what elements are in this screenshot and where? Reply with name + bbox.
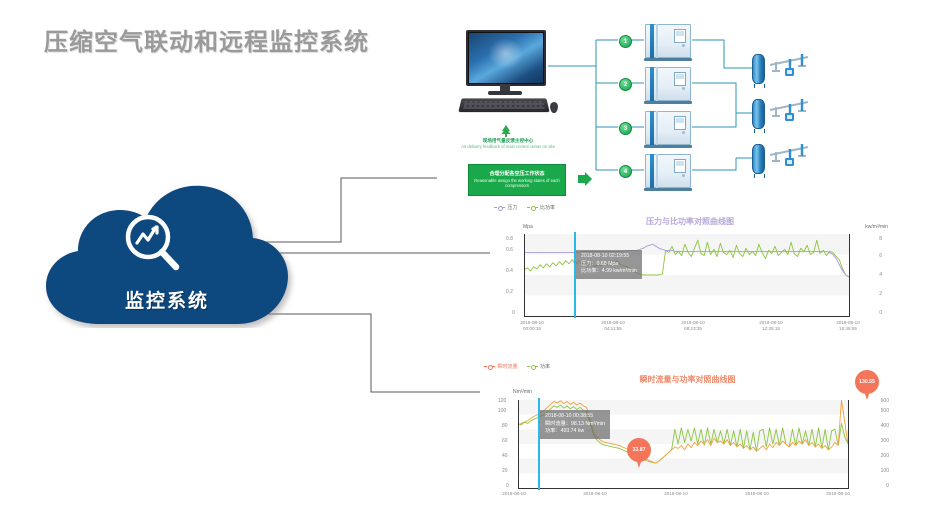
air-compressor-2 bbox=[645, 67, 691, 101]
pressure-tooltip-line2: 比功率：4.99 kw/m³/min bbox=[581, 268, 637, 276]
pressure-xtick-1: 2018-08-1004:11:55 bbox=[583, 320, 643, 331]
flow-xtick-3: 2018-08-10 bbox=[727, 491, 787, 497]
flow-tooltip-line2: 功率：493.74 kw bbox=[545, 428, 605, 436]
pressure-xtick-4: 2018-08-1016:46:55 bbox=[818, 320, 878, 331]
monitor-caption-en: Air delivery feedback of main control ce… bbox=[446, 144, 570, 149]
pressure-ytick-3: 0.6 bbox=[506, 247, 513, 253]
legend-label-pressure: 压力 bbox=[508, 204, 518, 211]
desktop-monitor-icon bbox=[460, 30, 548, 120]
pressure-xtick-3: 2018-08-1012:35:15 bbox=[741, 320, 801, 331]
node-circle-1: 1 bbox=[619, 35, 632, 48]
tree-icon bbox=[499, 124, 513, 138]
pipe-network-2 bbox=[768, 96, 812, 126]
flow-y2tick-4: 400 bbox=[881, 423, 889, 429]
min-flow-marker[interactable]: 33.87 bbox=[627, 438, 651, 469]
flow-tooltip-timestamp: 2018-08-10 00:38:55 bbox=[545, 413, 605, 421]
legend-item-power[interactable]: 功率 bbox=[527, 363, 551, 370]
pipe-network-3 bbox=[768, 141, 812, 171]
pressure-ytick-0: 0 bbox=[512, 310, 515, 316]
flow-chart-title: 瞬时流量与功率对照曲线图 bbox=[480, 374, 895, 385]
pressure-ytick-2: 0.4 bbox=[506, 268, 513, 274]
flow-ytick-6: 120 bbox=[498, 398, 506, 404]
pressure-ytick-4: 0.8 bbox=[506, 236, 513, 242]
pressure-chart-title: 压力与比功率对照曲线图 bbox=[490, 216, 890, 227]
legend-item-specific-power[interactable]: 比功率 bbox=[527, 204, 556, 211]
legend-item-instant-flow[interactable]: 瞬时流量 bbox=[484, 363, 518, 370]
flow-y2tick-3: 300 bbox=[881, 438, 889, 444]
right-arrow-icon bbox=[576, 170, 594, 188]
pressure-y2tick-3: 6 bbox=[879, 253, 882, 259]
flow-xtick-0: 2018-08-10 bbox=[484, 491, 544, 497]
flow-ytick-2: 40 bbox=[502, 453, 508, 459]
flow-xtick-4: 2018-08-10 bbox=[808, 491, 868, 497]
legend-label-power: 功率 bbox=[540, 363, 550, 370]
flow-y2tick-2: 200 bbox=[881, 453, 889, 459]
legend-marker-pressure bbox=[494, 205, 505, 211]
legend-item-pressure[interactable]: 压力 bbox=[494, 204, 518, 211]
air-tank-1 bbox=[752, 54, 765, 84]
flow-ytick-0: 0 bbox=[506, 483, 509, 489]
flow-chart-legend: 瞬时流量 功率 bbox=[484, 363, 550, 370]
air-tank-3 bbox=[752, 144, 765, 174]
node-circle-3: 3 bbox=[619, 122, 632, 135]
pressure-tooltip-timestamp: 2018-08-10 02:19:55 bbox=[581, 253, 637, 261]
flow-xtick-1: 2018-08-10 bbox=[565, 491, 625, 497]
flow-y-axis-unit: Nm³/min bbox=[513, 389, 532, 395]
slide-root: 压缩空气联动和远程监控系统 监控系统 bbox=[0, 0, 945, 529]
flow-ytick-5: 100 bbox=[498, 408, 506, 414]
air-compressor-4 bbox=[645, 154, 691, 188]
pressure-chart-legend: 压力 比功率 bbox=[494, 204, 555, 211]
flow-ytick-1: 20 bbox=[502, 468, 508, 474]
legend-marker-specific-power bbox=[527, 205, 538, 211]
page-title: 压缩空气联动和远程监控系统 bbox=[44, 22, 369, 57]
pressure-ytick-1: 0.2 bbox=[506, 289, 513, 295]
pressure-y2tick-2: 4 bbox=[879, 272, 882, 278]
legend-marker-instant-flow bbox=[484, 364, 495, 370]
max-flow-marker-label: 130.55 bbox=[855, 370, 879, 394]
flow-ytick-4: 80 bbox=[502, 423, 508, 429]
pressure-chart: 压力 比功率 压力与比功率对照曲线图 Mpa kw/m³/min 0 0.2 0… bbox=[490, 200, 890, 335]
flow-y2tick-1: 100 bbox=[881, 468, 889, 474]
node-circle-4: 4 bbox=[619, 165, 632, 178]
system-diagram: 现场用气量反馈主控中心 Air delivery feedback of mai… bbox=[436, 18, 936, 200]
pressure-y-axis-unit: Mpa bbox=[523, 224, 533, 230]
flow-y2tick-6: 600 bbox=[881, 398, 889, 404]
flow-chart: 瞬时流量 功率 瞬时流量与功率对照曲线图 Nm³/min 0 20 40 60 … bbox=[480, 360, 895, 529]
air-tank-2 bbox=[752, 99, 765, 129]
assign-status-box: 合理分配各空压工作状态 Reasonable assign the workin… bbox=[468, 164, 566, 196]
assign-status-en: Reasonable assign the working states of … bbox=[469, 178, 565, 189]
flow-y2tick-0: 0 bbox=[886, 483, 889, 489]
air-compressor-1 bbox=[645, 24, 691, 58]
pressure-xtick-0: 2018-08-1000:00:15 bbox=[502, 320, 562, 331]
max-flow-marker[interactable]: 130.55 bbox=[855, 370, 879, 401]
flow-tooltip-line1: 瞬时流量：98.13 Nm³/min bbox=[545, 421, 605, 429]
legend-label-instant-flow: 瞬时流量 bbox=[498, 363, 518, 370]
flow-tooltip: 2018-08-10 00:38:55 瞬时流量：98.13 Nm³/min 功… bbox=[540, 410, 610, 439]
flow-xtick-2: 2018-08-10 bbox=[646, 491, 706, 497]
legend-marker-power bbox=[527, 364, 538, 370]
monitor-caption: 现场用气量反馈主控中心 Air delivery feedback of mai… bbox=[446, 138, 570, 149]
pressure-plot-area[interactable] bbox=[524, 234, 849, 316]
legend-label-specific-power: 比功率 bbox=[540, 204, 555, 211]
pressure-y2tick-0: 0 bbox=[879, 310, 882, 316]
node-circle-2: 2 bbox=[619, 78, 632, 91]
pressure-tooltip-line1: 压力：0.68 Mpa bbox=[581, 261, 637, 269]
pressure-y2tick-1: 2 bbox=[879, 291, 882, 297]
pressure-y2-axis-unit: kw/m³/min bbox=[865, 224, 888, 230]
flow-ytick-3: 60 bbox=[502, 438, 508, 444]
pressure-xtick-2: 2018-08-1008:23:35 bbox=[663, 320, 723, 331]
pressure-tooltip: 2018-08-10 02:19:55 压力：0.68 Mpa 比功率：4.99… bbox=[576, 250, 642, 279]
air-compressor-3 bbox=[645, 111, 691, 145]
pipe-network-1 bbox=[768, 51, 812, 81]
cloud-label: 监控系统 bbox=[38, 286, 296, 313]
pressure-y2tick-4: 8 bbox=[879, 236, 882, 242]
flow-y2tick-5: 500 bbox=[881, 408, 889, 414]
min-flow-marker-label: 33.87 bbox=[627, 438, 651, 462]
magnifier-chart-icon bbox=[118, 212, 188, 274]
